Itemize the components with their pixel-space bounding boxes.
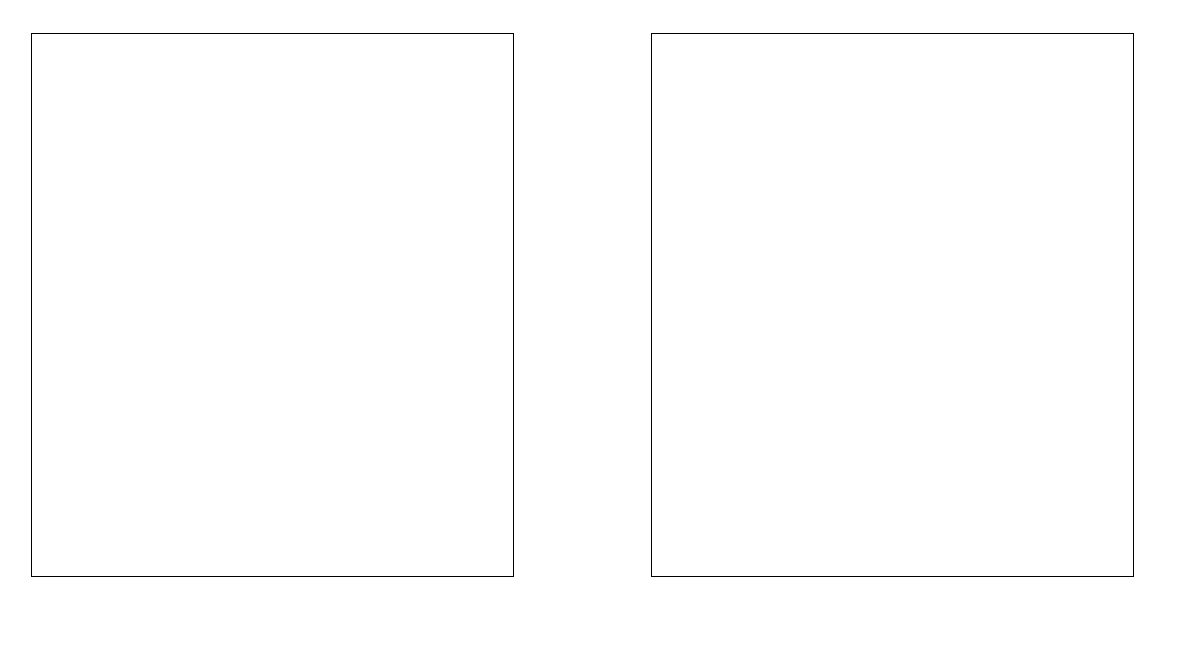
map-plot-bias [651, 33, 1134, 577]
colorbar-bias [1124, 55, 1140, 565]
panel-model [0, 0, 600, 672]
colorbar-model [529, 55, 545, 565]
state-boundaries-bias [652, 34, 1133, 576]
panel-bias [600, 0, 1200, 672]
state-boundaries-model [32, 34, 513, 576]
map-plot-model [31, 33, 514, 577]
figure-canvas [0, 0, 1200, 672]
